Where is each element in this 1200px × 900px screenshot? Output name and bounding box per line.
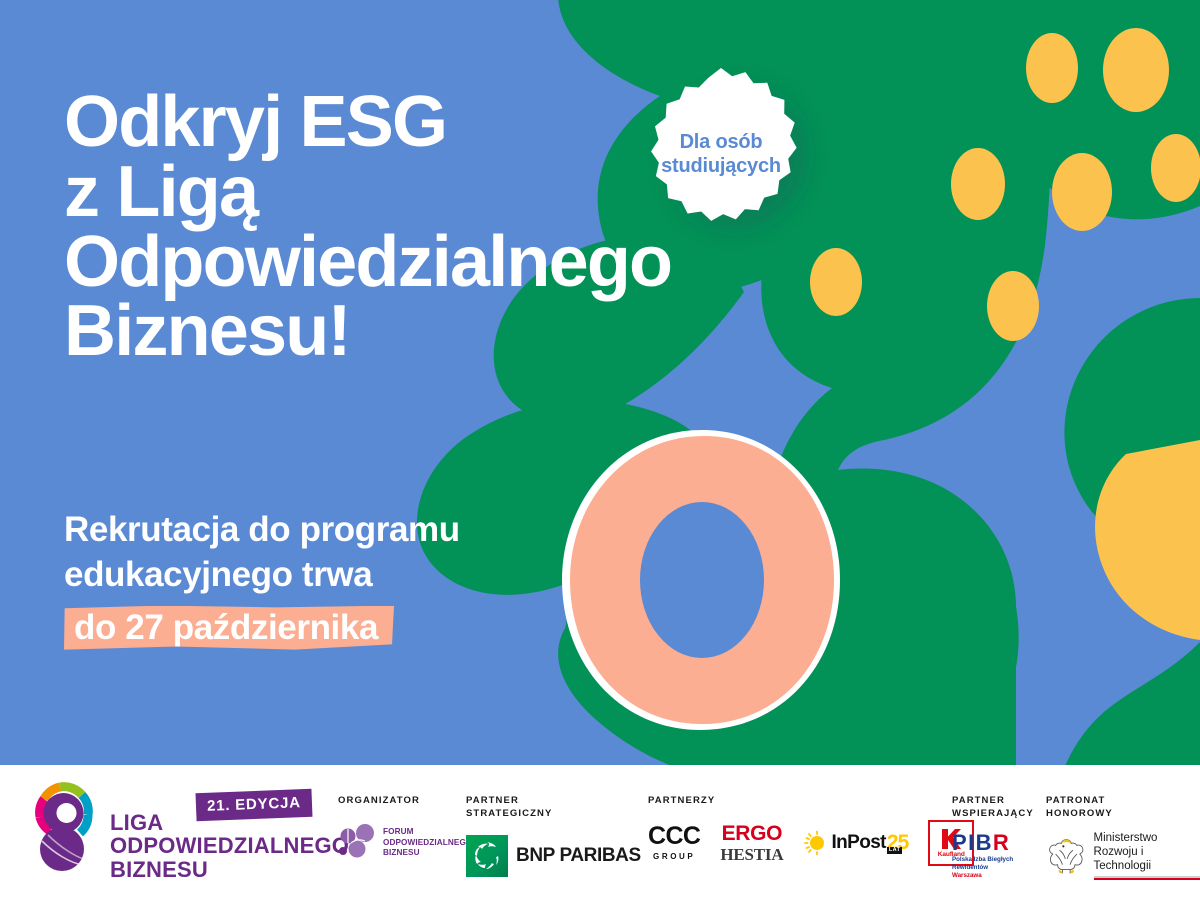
ergo-wordmark: ERGO <box>720 823 783 844</box>
ministerstwo-logo: Ministerstwo Rozwoju i Technologii <box>1046 831 1200 880</box>
subtitle-text: Rekrutacja do programu edukacyjnego trwa <box>64 508 584 598</box>
partner-group-logos: Ministerstwo Rozwoju i Technologii <box>1046 829 1200 883</box>
partner-group-label: PATRONAT HONOROWY <box>1046 795 1200 821</box>
edition-badge: 21. EDYCJA <box>196 789 313 821</box>
pibr-city: Warszawa <box>952 872 1013 879</box>
polish-eagle-icon <box>1046 836 1087 876</box>
pibr-logo: PIBR Polska Izba Biegłych Rewidentów War… <box>952 832 1013 879</box>
inpost-logo: InPost 25 LAT <box>803 830 908 856</box>
ministry-wordmark: Ministerstwo Rozwoju i Technologii <box>1094 831 1200 873</box>
bnp-star-icon <box>466 835 508 877</box>
partner-group-logos: CCC GROUP ERGO HESTIA <box>648 816 974 870</box>
partner-group-partnerzy: PARTNERZY CCC GROUP ERGO HESTIA <box>648 795 974 895</box>
partner-group-label: PARTNER STRATEGICZNY <box>466 795 641 821</box>
audience-badge: Dla osób studiujących <box>632 66 810 244</box>
partner-group-wspierajacy: PARTNER WSPIERAJĄCY PIBR Polska Izba Bie… <box>952 795 1034 895</box>
partner-group-logos: PIBR Polska Izba Biegłych Rewidentów War… <box>952 829 1034 883</box>
bnp-paribas-logo: BNP PARIBAS <box>466 835 641 877</box>
peach-donut-hole <box>640 502 764 658</box>
partner-group-organizator: ORGANIZATOR FORUM ODPOWIEDZIALNEGO B <box>338 795 472 895</box>
fob-wordmark: FORUM ODPOWIEDZIALNEGO BIZNESU <box>383 827 472 858</box>
subtitle-block: Rekrutacja do programu edukacyjnego trwa… <box>64 508 584 654</box>
ergo-hestia-logo: ERGO HESTIA <box>720 823 783 863</box>
partner-group-label: ORGANIZATOR <box>338 795 472 808</box>
lob-logo-wordmark: LIGA ODPOWIEDZIALNEGO BIZNESU <box>110 811 349 881</box>
hestia-wordmark: HESTIA <box>720 846 783 863</box>
fob-bubbles-icon <box>338 824 378 862</box>
partner-group-patronat: PATRONAT HONOROWY <box>1046 795 1200 895</box>
inpost-anniversary: 25 LAT <box>887 831 908 855</box>
sun-icon <box>803 830 829 856</box>
starburst-icon <box>632 66 810 244</box>
ccc-subtitle: GROUP <box>648 852 700 861</box>
ccc-wordmark: CCC <box>648 824 700 849</box>
pibr-subtitle: Polska Izba Biegłych Rewidentów <box>952 856 1013 872</box>
peach-donut <box>562 430 840 730</box>
inpost-wordmark: InPost <box>831 832 885 854</box>
ministry-flag-rule <box>1094 876 1200 880</box>
footer-partner-bar: LIGA ODPOWIEDZIALNEGO BIZNESU 21. EDYCJA… <box>0 765 1200 900</box>
inpost-anniversary-unit: LAT <box>887 847 902 854</box>
ccc-logo: CCC GROUP <box>648 824 700 861</box>
deadline-text: do 27 października <box>74 608 378 647</box>
partner-group-label: PARTNERZY <box>648 795 974 808</box>
partner-group-logos: BNP PARIBAS <box>466 829 641 883</box>
partner-group-label: PARTNER WSPIERAJĄCY <box>952 795 1034 821</box>
pibr-initials-red: R <box>993 830 1010 855</box>
bnp-wordmark: BNP PARIBAS <box>516 845 641 867</box>
fob-logo: FORUM ODPOWIEDZIALNEGO BIZNESU <box>338 824 472 862</box>
pibr-wordmark: PIBR <box>952 832 1013 854</box>
partner-group-strategiczny: PARTNER STRATEGICZNY <box>466 795 641 895</box>
ministry-text-block: Ministerstwo Rozwoju i Technologii <box>1094 831 1200 880</box>
pibr-initials-blue: PIB <box>952 830 993 855</box>
deadline-highlight: do 27 października <box>64 604 394 654</box>
promo-poster: Odkryj ESG z Ligą Odpowiedzialnego Bizne… <box>0 0 1200 900</box>
lob-ring-icon <box>30 777 110 873</box>
partner-group-logos: FORUM ODPOWIEDZIALNEGO BIZNESU <box>338 816 472 870</box>
